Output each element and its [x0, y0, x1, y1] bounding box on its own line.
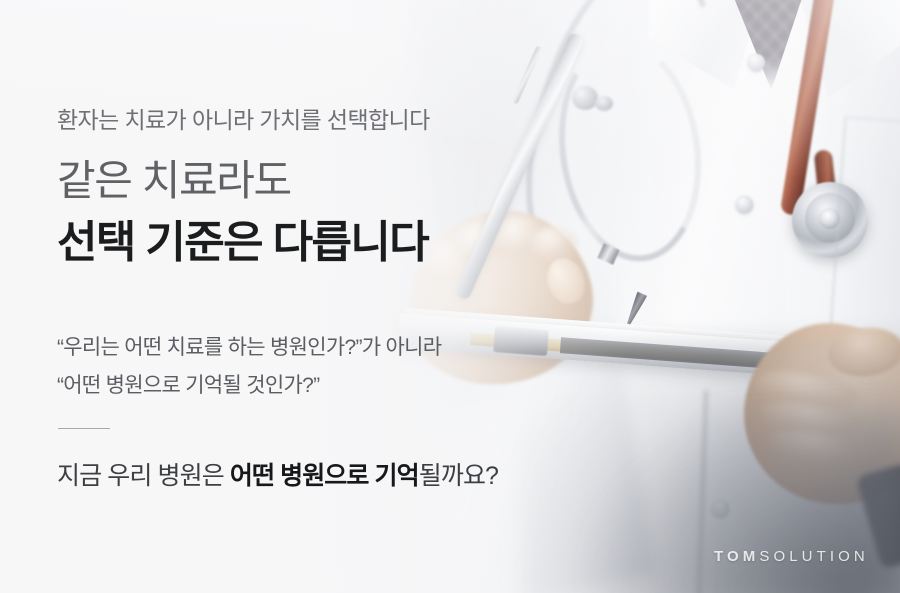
closing-suffix: 될까요? — [419, 462, 498, 490]
closing-prefix: 지금 우리 병원은 — [57, 462, 230, 490]
quote-line-1: “우리는 어떤 치료를 하는 병원인가?”가 아니라 — [57, 331, 441, 361]
watermark-brand-rest: SOLUTION — [759, 548, 868, 565]
closing-emphasis: 어떤 병원으로 기억 — [230, 462, 419, 490]
headline-line-1: 같은 치료라도 — [57, 147, 291, 208]
eyebrow-text: 환자는 치료가 아니라 가치를 선택합니다 — [57, 101, 430, 135]
divider — [58, 428, 110, 429]
quote-line-2: “어떤 병원으로 기억될 것인가?” — [57, 369, 319, 399]
banner-text-block: 환자는 치료가 아니라 가치를 선택합니다 같은 치료라도 선택 기준은 다릅니… — [57, 0, 677, 593]
headline-line-2: 선택 기준은 다릅니다 — [57, 206, 428, 270]
watermark-brand-strong: TOM — [714, 548, 759, 565]
closing-question: 지금 우리 병원은 어떤 병원으로 기억될까요? — [57, 456, 498, 492]
brand-watermark: TOMSOLUTION — [714, 548, 869, 565]
promotional-banner: 환자는 치료가 아니라 가치를 선택합니다 같은 치료라도 선택 기준은 다릅니… — [0, 0, 900, 593]
